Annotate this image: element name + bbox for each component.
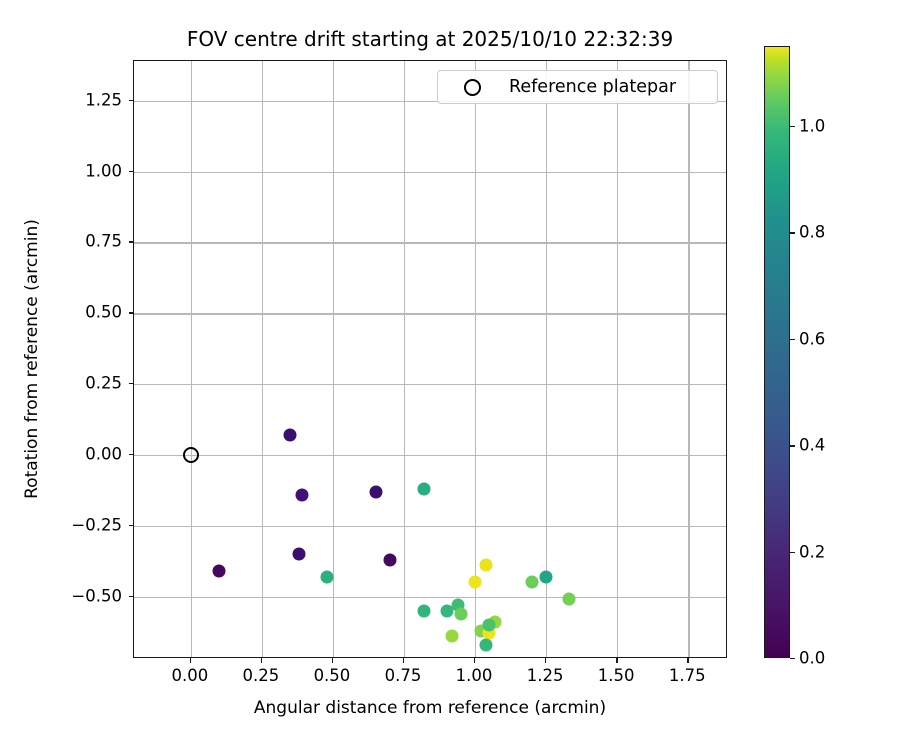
colorbar-tick (790, 658, 795, 659)
colorbar-tick (790, 445, 795, 446)
scatter-plot-figure: FOV centre drift starting at 2025/10/10 … (0, 0, 900, 750)
data-point (213, 565, 226, 578)
gridline-vertical (617, 61, 618, 657)
gridline-vertical (262, 61, 263, 657)
colorbar-tick (790, 339, 795, 340)
data-point (292, 548, 305, 561)
data-point (525, 576, 538, 589)
colorbar-tick-label: 0.6 (799, 329, 825, 348)
x-axis-tick (545, 658, 546, 663)
data-point (454, 607, 467, 620)
data-point (284, 429, 297, 442)
data-point (295, 488, 308, 501)
x-axis-tick (332, 658, 333, 663)
data-point (562, 593, 575, 606)
data-point (383, 553, 396, 566)
data-point (480, 638, 493, 651)
y-axis-tick (129, 454, 134, 455)
x-axis-tick (403, 658, 404, 663)
x-axis-tick-label: 1.75 (669, 666, 706, 685)
colorbar-tick-label: 0.0 (799, 649, 825, 668)
y-axis-tick (129, 596, 134, 597)
gridline-vertical (475, 61, 476, 657)
data-point (417, 482, 430, 495)
gridline-horizontal (134, 597, 726, 598)
gridline-vertical (333, 61, 334, 657)
y-axis-tick (129, 383, 134, 384)
y-axis-tick (129, 312, 134, 313)
colorbar-tick (790, 232, 795, 233)
x-axis-tick-label: 1.00 (456, 666, 493, 685)
y-axis-tick-label: 0.75 (85, 232, 122, 251)
data-point (446, 630, 459, 643)
gridline-vertical (546, 61, 547, 657)
y-axis-label: Rotation from reference (arcmin) (22, 159, 42, 559)
colorbar-tick-label: 0.2 (799, 542, 825, 561)
plot-area (134, 61, 726, 657)
colorbar-tick-label: 1.0 (799, 116, 825, 135)
gridline-horizontal (134, 242, 726, 243)
y-axis-tick-label: 0.50 (85, 303, 122, 322)
y-axis-tick-label: 0.25 (85, 374, 122, 393)
y-axis-tick-label: −0.25 (71, 515, 122, 534)
plot-axes (133, 60, 727, 658)
data-point (417, 604, 430, 617)
data-point (369, 485, 382, 498)
gridline-horizontal (134, 313, 726, 314)
x-axis-tick (687, 658, 688, 663)
y-axis-tick-label: 0.00 (85, 444, 122, 463)
x-axis-tick (616, 658, 617, 663)
y-axis-tick-label: −0.50 (71, 586, 122, 605)
y-axis-tick-label: 1.25 (85, 90, 122, 109)
y-axis-tick (129, 100, 134, 101)
x-axis-tick-label: 1.50 (598, 666, 635, 685)
x-axis-tick-label: 0.75 (385, 666, 422, 685)
reference-platepar-point (183, 447, 199, 463)
colorbar-tick (790, 552, 795, 553)
data-point (469, 576, 482, 589)
gridline-vertical (688, 61, 689, 657)
data-point (321, 570, 334, 583)
x-axis-tick-label: 1.25 (527, 666, 564, 685)
legend: Reference platepar (437, 70, 718, 104)
x-axis-label: Angular distance from reference (arcmin) (133, 698, 727, 718)
legend-item-label: Reference platepar (509, 77, 676, 97)
data-point (480, 559, 493, 572)
reference-platepar-marker-icon (464, 79, 481, 96)
y-axis-tick-label: 1.00 (85, 161, 122, 180)
x-axis-tick (474, 658, 475, 663)
gridline-vertical (404, 61, 405, 657)
colorbar-tick (790, 126, 795, 127)
colorbar-tick-label: 0.8 (799, 223, 825, 242)
data-point (483, 618, 496, 631)
x-axis-tick-label: 0.50 (314, 666, 351, 685)
page-title: FOV centre drift starting at 2025/10/10 … (133, 27, 727, 51)
gridline-horizontal (134, 172, 726, 173)
x-axis-tick-label: 0.25 (243, 666, 280, 685)
x-axis-tick-label: 0.00 (171, 666, 208, 685)
colorbar-tick-label: 0.4 (799, 436, 825, 455)
gridline-horizontal (134, 526, 726, 527)
y-axis-tick (129, 525, 134, 526)
y-axis-tick (129, 241, 134, 242)
gridline-vertical (191, 61, 192, 657)
x-axis-tick (261, 658, 262, 663)
data-point (540, 570, 553, 583)
gridline-horizontal (134, 455, 726, 456)
y-axis-tick (129, 171, 134, 172)
colorbar (764, 46, 790, 658)
x-axis-tick (190, 658, 191, 663)
gridline-horizontal (134, 384, 726, 385)
